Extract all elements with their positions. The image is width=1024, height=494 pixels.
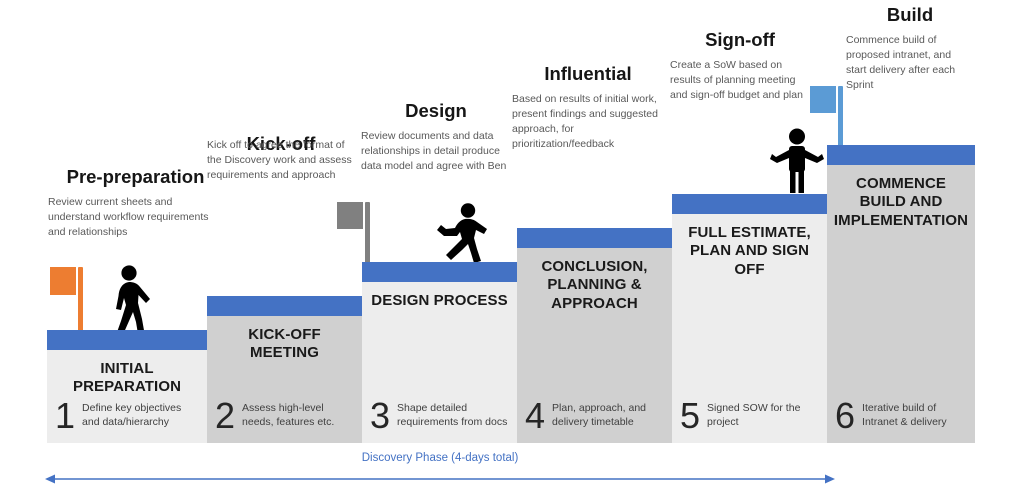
step-heading-5: FULL ESTIMATE, PLAN AND SIGN OFF: [678, 224, 821, 279]
step-heading-6: COMMENCE BUILD AND IMPLEMENTATION: [833, 175, 969, 230]
callout-step-6: Build Commence build of proposed intrane…: [846, 4, 974, 93]
step-number-4: 4: [525, 399, 545, 433]
step-foot-desc-6: Iterative build of Intranet & delivery: [862, 402, 969, 429]
step-body-1: INITIAL PREPARATION 1 Define key objecti…: [47, 350, 207, 443]
callout-desc-6: Commence build of proposed intranet, and…: [846, 33, 974, 93]
step-body-5: FULL ESTIMATE, PLAN AND SIGN OFF 5 Signe…: [672, 214, 827, 443]
discovery-phase-indicator: Discovery Phase (4-days total): [45, 452, 835, 486]
step-number-6: 6: [835, 399, 855, 433]
step-cap-5: [672, 194, 827, 214]
callout-desc-1: Review current sheets and understand wor…: [48, 195, 223, 240]
step-block-4[interactable]: CONCLUSION, PLANNING & APPROACH 4 Plan, …: [517, 228, 672, 443]
callout-step-2: Kick-off Kick off to agree the format of…: [207, 133, 355, 183]
step-number-5: 5: [680, 399, 700, 433]
standing-person-icon: [770, 128, 824, 194]
step-footer-1: 1 Define key objectives and data/hierarc…: [55, 399, 201, 433]
callout-step-5: Sign-off Create a SoW based on results o…: [670, 29, 810, 103]
step-footer-3: 3 Shape detailed requirements from docs: [370, 399, 511, 433]
step-foot-desc-5: Signed SOW for the project: [707, 402, 821, 429]
step-heading-3: DESIGN PROCESS: [368, 292, 511, 310]
step-number-1: 1: [55, 399, 75, 433]
callout-step-4: Influential Based on results of initial …: [512, 63, 664, 152]
callout-title-4: Influential: [512, 63, 664, 85]
step-foot-desc-2: Assess high-level needs, features etc.: [242, 402, 356, 429]
callout-title-3: Design: [361, 100, 511, 122]
step-block-5[interactable]: FULL ESTIMATE, PLAN AND SIGN OFF 5 Signe…: [672, 194, 827, 443]
step-block-2[interactable]: KICK-OFF MEETING 2 Assess high-level nee…: [207, 296, 362, 443]
callout-desc-5: Create a SoW based on results of plannin…: [670, 58, 810, 103]
callout-desc-2: Kick off to agree the format of the Disc…: [207, 138, 355, 183]
step-footer-5: 5 Signed SOW for the project: [680, 399, 821, 433]
step-footer-4: 4 Plan, approach, and delivery timetable: [525, 399, 666, 433]
discovery-phase-label: Discovery Phase (4-days total): [45, 452, 835, 464]
callout-step-1: Pre-preparation Review current sheets an…: [48, 166, 223, 240]
step-cap-1: [47, 330, 207, 350]
step-foot-desc-4: Plan, approach, and delivery timetable: [552, 402, 666, 429]
callout-step-3: Design Review documents and data relatio…: [361, 100, 511, 174]
callout-desc-4: Based on results of initial work, presen…: [512, 92, 664, 152]
step-block-3[interactable]: DESIGN PROCESS 3 Shape detailed requirem…: [362, 262, 517, 443]
step-block-1[interactable]: INITIAL PREPARATION 1 Define key objecti…: [47, 330, 207, 443]
callout-desc-3: Review documents and data relationships …: [361, 129, 511, 174]
staircase-infographic: Pre-preparation Review current sheets an…: [0, 0, 1024, 494]
step-body-4: CONCLUSION, PLANNING & APPROACH 4 Plan, …: [517, 248, 672, 443]
double-arrow-icon: [45, 473, 835, 485]
step-number-3: 3: [370, 399, 390, 433]
step-heading-1: INITIAL PREPARATION: [53, 360, 201, 397]
step-number-2: 2: [215, 399, 235, 433]
step-footer-6: 6 Iterative build of Intranet & delivery: [835, 399, 969, 433]
step-block-6[interactable]: COMMENCE BUILD AND IMPLEMENTATION 6 Iter…: [827, 145, 975, 443]
callout-title-5: Sign-off: [670, 29, 810, 51]
step-foot-desc-1: Define key objectives and data/hierarchy: [82, 402, 201, 429]
step-body-2: KICK-OFF MEETING 2 Assess high-level nee…: [207, 316, 362, 443]
step-cap-6: [827, 145, 975, 165]
running-person-icon: [432, 203, 492, 265]
step-cap-4: [517, 228, 672, 248]
callout-title-1: Pre-preparation: [48, 166, 223, 188]
step-cap-2: [207, 296, 362, 316]
step-cap-3: [362, 262, 517, 282]
gray-flag-icon: [337, 202, 373, 268]
callout-title-6: Build: [846, 4, 974, 26]
step-heading-2: KICK-OFF MEETING: [213, 326, 356, 363]
step-heading-4: CONCLUSION, PLANNING & APPROACH: [523, 258, 666, 313]
step-body-6: COMMENCE BUILD AND IMPLEMENTATION 6 Iter…: [827, 165, 975, 443]
step-foot-desc-3: Shape detailed requirements from docs: [397, 402, 511, 429]
step-body-3: DESIGN PROCESS 3 Shape detailed requirem…: [362, 282, 517, 443]
step-footer-2: 2 Assess high-level needs, features etc.: [215, 399, 356, 433]
